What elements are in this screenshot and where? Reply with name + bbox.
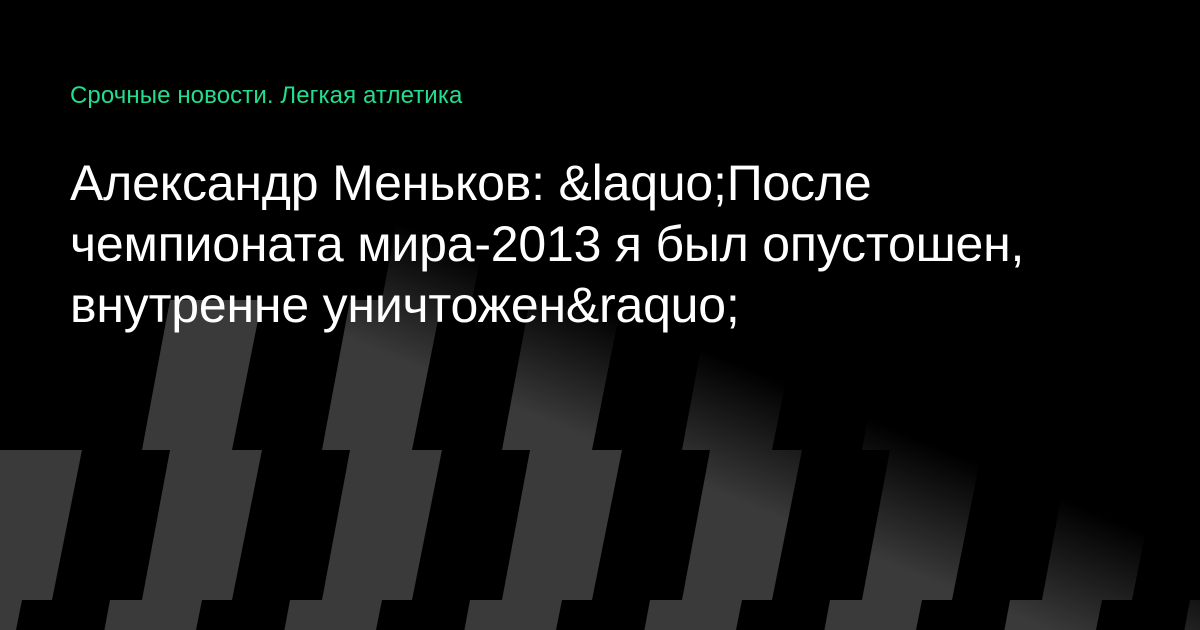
headline-line-3: внутренне уничтожен&raquo; bbox=[70, 275, 1130, 336]
headline-line-2: чемпионата мира-2013 я был опустошен, bbox=[70, 214, 1130, 275]
card-content: Срочные новости. Легкая атлетика Алексан… bbox=[0, 0, 1200, 630]
kicker-label: Срочные новости. Легкая атлетика bbox=[70, 82, 1130, 110]
news-social-card: Срочные новости. Легкая атлетика Алексан… bbox=[0, 0, 1200, 630]
headline-line-1: Александр Меньков: &laquo;После bbox=[70, 153, 1130, 214]
page-title: Александр Меньков: &laquo;После чемпиона… bbox=[70, 153, 1130, 336]
